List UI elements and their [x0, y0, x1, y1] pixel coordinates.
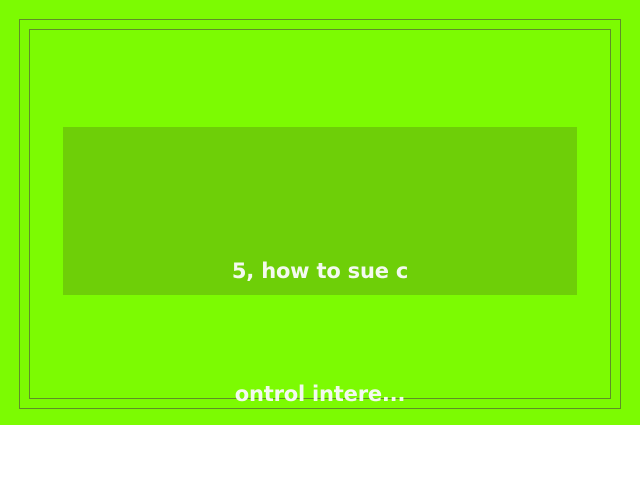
headline-line-1: 5, how to sue c — [63, 251, 577, 292]
content-panel: 5, how to sue c ontrol intere... — [63, 127, 577, 295]
slide-canvas: 5, how to sue c ontrol intere... — [0, 0, 640, 425]
headline-line-2: ontrol intere... — [63, 374, 577, 415]
headline-text: 5, how to sue c ontrol intere... — [63, 169, 577, 497]
